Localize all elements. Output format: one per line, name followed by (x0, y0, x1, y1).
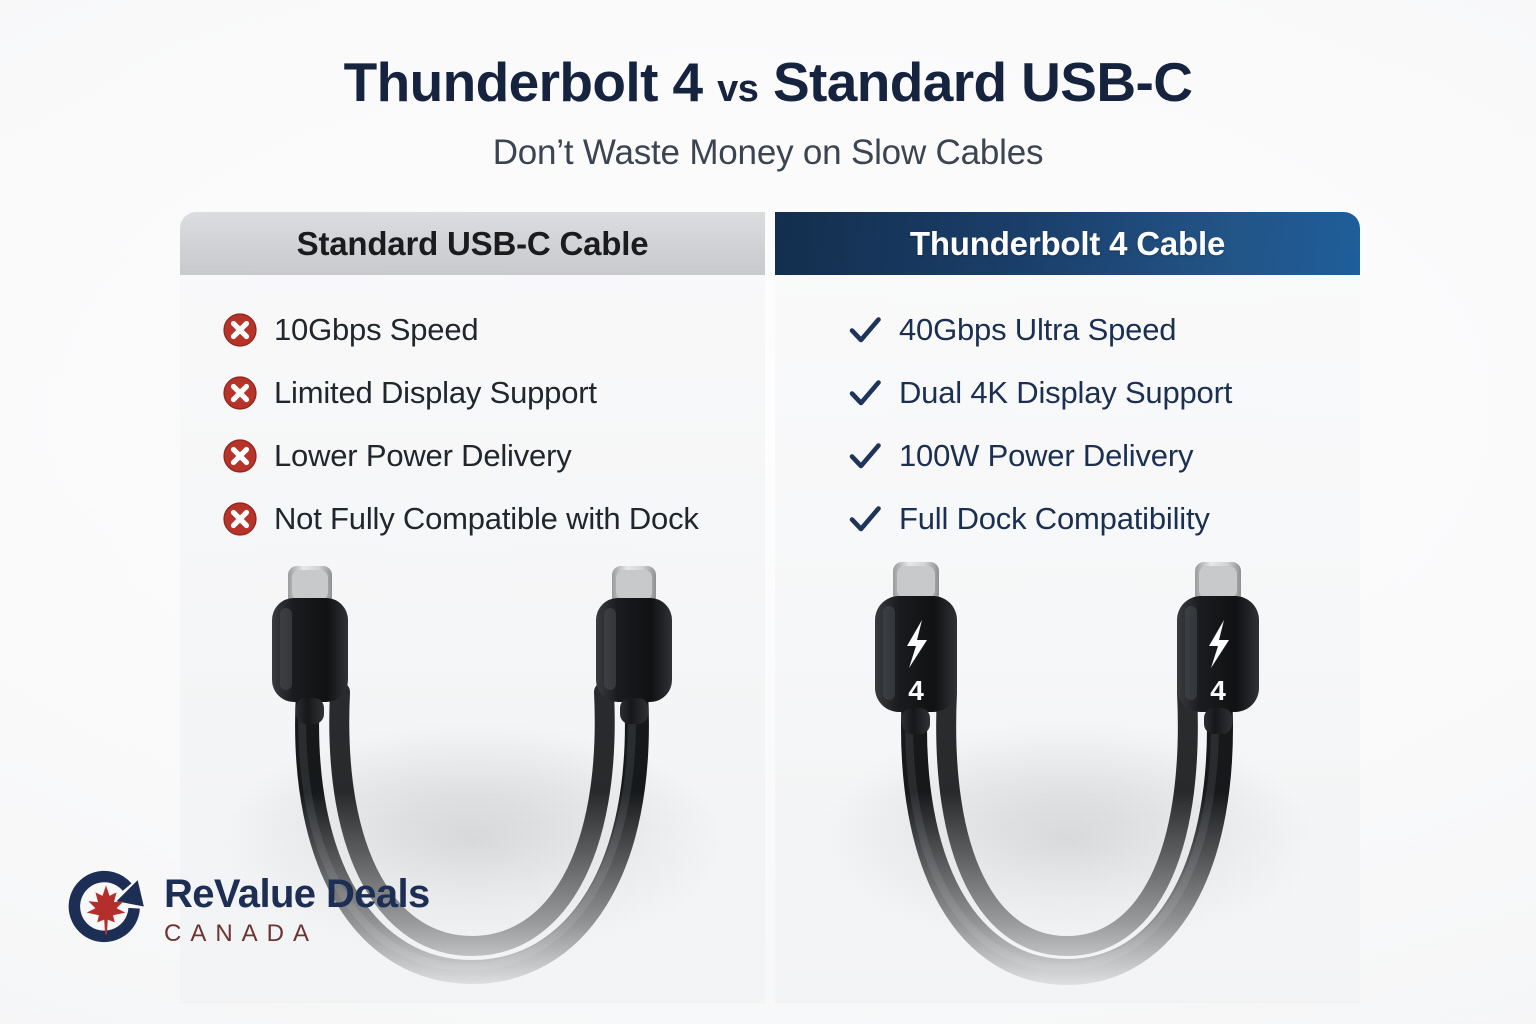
page-title: Thunderbolt 4 vs Standard USB-C (0, 54, 1536, 112)
feature-label: Full Dock Compatibility (899, 501, 1210, 537)
panel-left-header-label: Standard USB-C Cable (297, 225, 649, 263)
thunderbolt-connector-right: 4 (1177, 562, 1259, 734)
svg-text:4: 4 (1210, 675, 1226, 706)
list-item: 10Gbps Speed (222, 310, 699, 350)
feature-label: 10Gbps Speed (274, 312, 478, 348)
brand-country: CANADA (164, 922, 430, 946)
list-item: Lower Power Delivery (222, 436, 699, 476)
list-item: 40Gbps Ultra Speed (847, 310, 1232, 350)
feature-list-right: 40Gbps Ultra Speed Dual 4K Display Suppo… (847, 310, 1232, 539)
svg-text:4: 4 (908, 675, 924, 706)
feature-label: Lower Power Delivery (274, 438, 572, 474)
panel-right-header: Thunderbolt 4 Cable (775, 212, 1360, 275)
panel-thunderbolt-4: Thunderbolt 4 Cable 40Gbps Ultra Speed D… (775, 212, 1360, 1002)
brand-text: ReValue Deals CANADA (164, 874, 430, 946)
panel-right-header-label: Thunderbolt 4 Cable (910, 225, 1225, 263)
circular-arrow-maple-leaf-icon (62, 866, 150, 954)
navy-check-icon (847, 375, 883, 411)
red-x-circle-icon (222, 375, 258, 411)
title-part-2: Standard USB-C (773, 51, 1192, 113)
navy-check-icon (847, 438, 883, 474)
navy-check-icon (847, 501, 883, 537)
red-x-circle-icon (222, 438, 258, 474)
feature-label: Dual 4K Display Support (899, 375, 1232, 411)
navy-check-icon (847, 312, 883, 348)
brand-logo[interactable]: ReValue Deals CANADA (62, 866, 430, 954)
thunderbolt-connector-left: 4 (875, 562, 957, 734)
red-x-circle-icon (222, 312, 258, 348)
cable-image-right: 4 4 (775, 542, 1360, 1002)
page-subtitle: Don’t Waste Money on Slow Cables (0, 133, 1536, 173)
brand-name: ReValue Deals (164, 874, 430, 914)
list-item: Not Fully Compatible with Dock (222, 499, 699, 539)
list-item: 100W Power Delivery (847, 436, 1232, 476)
title-vs: vs (717, 68, 758, 110)
list-item: Limited Display Support (222, 373, 699, 413)
title-part-1: Thunderbolt 4 (344, 51, 703, 113)
thunderbolt-4-cable-illustration: 4 4 (775, 542, 1360, 1002)
list-item: Full Dock Compatibility (847, 499, 1232, 539)
red-x-circle-icon (222, 501, 258, 537)
list-item: Dual 4K Display Support (847, 373, 1232, 413)
panel-left-header: Standard USB-C Cable (180, 212, 765, 275)
feature-label: Limited Display Support (274, 375, 597, 411)
feature-label: 100W Power Delivery (899, 438, 1193, 474)
infographic-canvas: Thunderbolt 4 vs Standard USB-C Don’t Wa… (0, 0, 1536, 1024)
feature-label: 40Gbps Ultra Speed (899, 312, 1176, 348)
feature-list-left: 10Gbps Speed Limited Display Support Low… (222, 310, 699, 539)
feature-label: Not Fully Compatible with Dock (274, 501, 699, 537)
